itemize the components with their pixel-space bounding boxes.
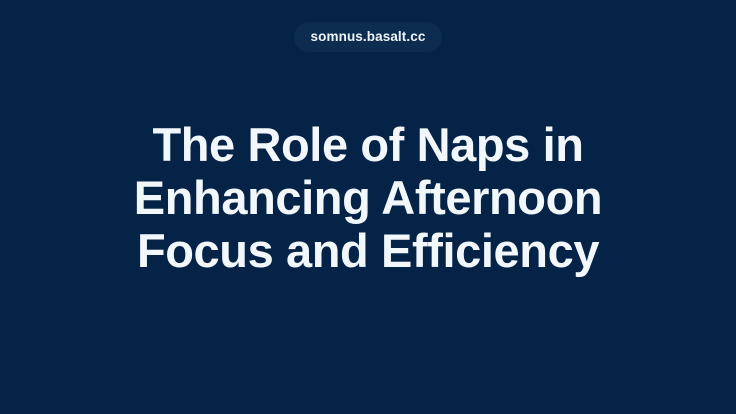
domain-badge-label: somnus.basalt.cc — [311, 30, 426, 44]
share-card: somnus.basalt.cc The Role of Naps in Enh… — [0, 0, 736, 414]
page-title-line-2: Enhancing Afternoon — [58, 171, 678, 224]
headline-container: The Role of Naps in Enhancing Afternoon … — [0, 118, 736, 277]
page-title-line-3: Focus and Efficiency — [58, 224, 678, 277]
badge-row: somnus.basalt.cc — [0, 22, 736, 52]
page-title: The Role of Naps in Enhancing Afternoon … — [58, 118, 678, 277]
domain-badge[interactable]: somnus.basalt.cc — [294, 22, 443, 52]
page-title-line-1: The Role of Naps in — [58, 118, 678, 171]
